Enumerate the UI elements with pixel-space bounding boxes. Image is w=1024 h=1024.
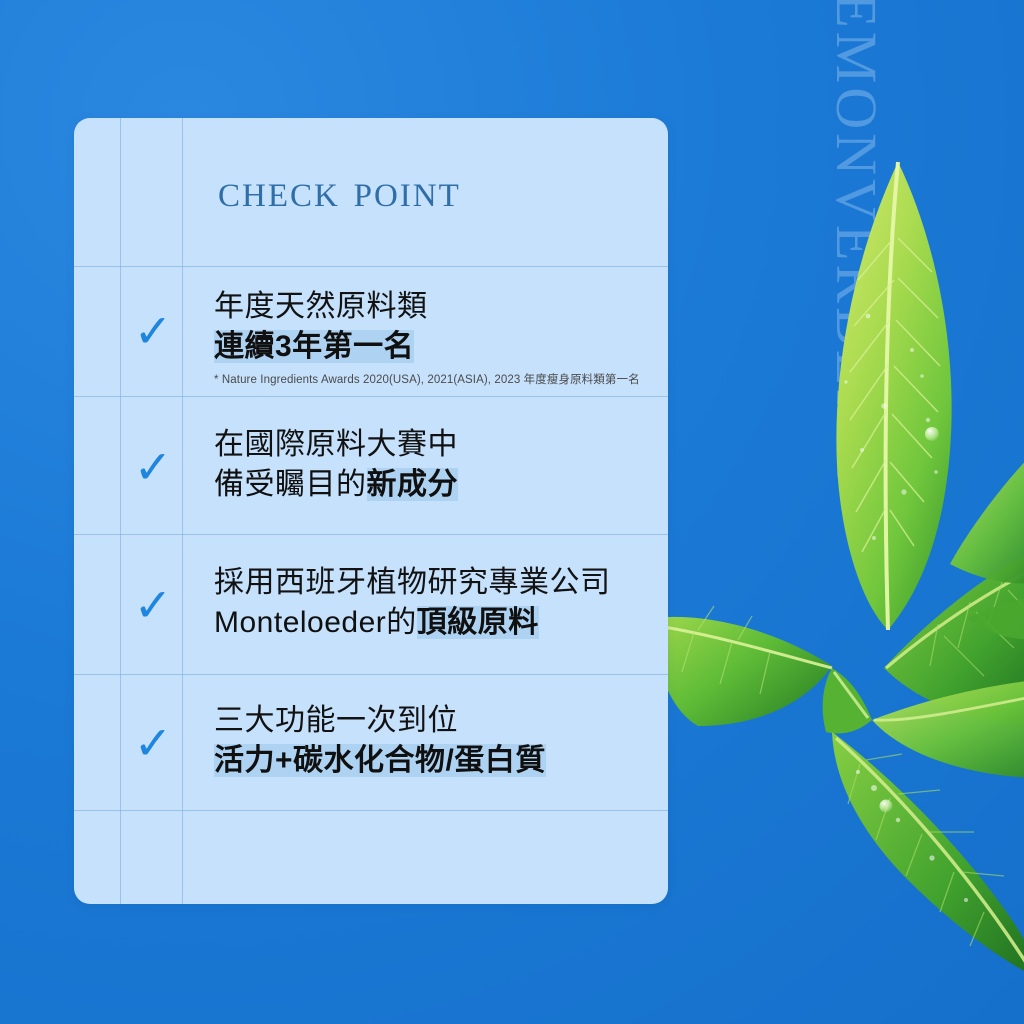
check-icon: ✓ [124, 720, 182, 766]
check-icon: ✓ [124, 308, 182, 354]
check-point-card: CHECK POINT ✓ 年度天然原料類 連續3年第一名 * Nature I… [74, 118, 668, 904]
check-item-line2-highlight: 頂級原料 [417, 606, 539, 639]
check-item-footnote: * Nature Ingredients Awards 2020(USA), 2… [214, 371, 658, 387]
check-item-line2-highlight: 連續3年第一名 [214, 330, 414, 363]
check-icon: ✓ [124, 444, 182, 490]
page-title: CHECK POINT [218, 164, 461, 218]
check-item-row: ✓ 三大功能一次到位 活力+碳水化合物/蛋白質 [74, 674, 668, 810]
check-item-line2-plain: Monteloeder的 [214, 606, 417, 639]
check-item-line2: 活力+碳水化合物/蛋白質 [214, 742, 658, 780]
check-item-line2-plain: 備受矚目的 [214, 468, 367, 501]
check-item-row: ✓ 採用西班牙植物研究專業公司 Monteloeder的頂級原料 [74, 534, 668, 674]
check-item-text: 年度天然原料類 連續3年第一名 * Nature Ingredients Awa… [214, 288, 658, 387]
check-item-line1: 採用西班牙植物研究專業公司 [214, 564, 658, 602]
check-item-line1: 年度天然原料類 [214, 288, 658, 326]
check-item-line2: Monteloeder的頂級原料 [214, 604, 658, 642]
check-item-text: 三大功能一次到位 活力+碳水化合物/蛋白質 [214, 702, 658, 780]
check-icon: ✓ [124, 582, 182, 628]
card-empty-row [74, 810, 668, 904]
check-item-text: 採用西班牙植物研究專業公司 Monteloeder的頂級原料 [214, 564, 658, 642]
check-item-line2-highlight: 新成分 [367, 468, 459, 501]
check-item-line2-highlight: 活力+碳水化合物/蛋白質 [214, 744, 546, 777]
check-item-line2: 連續3年第一名 [214, 328, 658, 366]
check-item-row: ✓ 年度天然原料類 連續3年第一名 * Nature Ingredients A… [74, 266, 668, 396]
check-item-text: 在國際原料大賽中 備受矚目的新成分 [214, 426, 658, 504]
check-item-row: ✓ 在國際原料大賽中 備受矚目的新成分 [74, 396, 668, 534]
check-item-line1: 在國際原料大賽中 [214, 426, 658, 464]
check-item-line2: 備受矚目的新成分 [214, 466, 658, 504]
check-item-line1: 三大功能一次到位 [214, 702, 658, 740]
